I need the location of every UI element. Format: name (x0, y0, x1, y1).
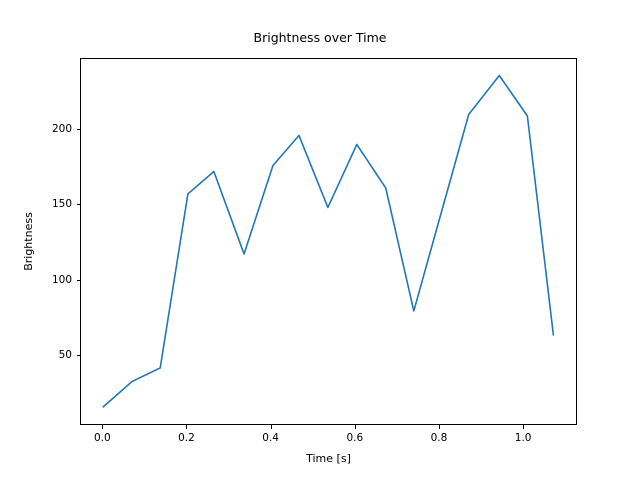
y-axis-label: Brightness (22, 58, 35, 425)
x-tick-mark (271, 425, 272, 429)
plot-area (80, 58, 577, 425)
x-axis-label: Time [s] (80, 452, 577, 465)
x-tick-mark (102, 425, 103, 429)
y-tick-label: 200 (34, 123, 72, 135)
line-series-svg (81, 59, 576, 424)
x-tick-label: 0.8 (431, 432, 448, 444)
x-tick-label: 0.4 (262, 432, 279, 444)
y-tick-label: 100 (34, 274, 72, 286)
chart-title: Brightness over Time (0, 30, 640, 45)
x-tick-label: 0.6 (346, 432, 363, 444)
x-tick-mark (355, 425, 356, 429)
x-tick-mark (186, 425, 187, 429)
x-tick-mark (439, 425, 440, 429)
brightness-line-series (103, 75, 553, 406)
x-tick-label: 0.2 (178, 432, 195, 444)
y-tick-label: 150 (34, 198, 72, 210)
x-tick-mark (523, 425, 524, 429)
chart-figure: Brightness over Time Brightness Time [s]… (0, 0, 640, 480)
x-tick-label: 0.0 (94, 432, 111, 444)
y-tick-label: 50 (34, 349, 72, 361)
x-tick-label: 1.0 (515, 432, 532, 444)
